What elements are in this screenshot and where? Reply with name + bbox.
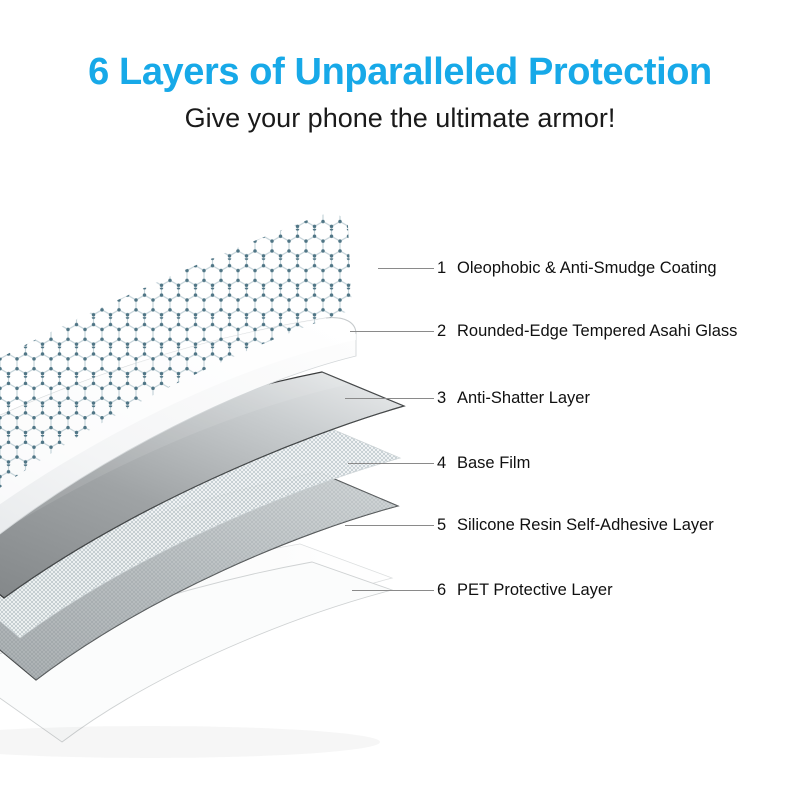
callout-label-4: Base Film [457, 454, 530, 472]
callout-row-5[interactable]: 5Silicone Resin Self-Adhesive Layer [0, 512, 800, 538]
callout-row-4[interactable]: 4Base Film [0, 450, 800, 476]
callout-text-5: 5Silicone Resin Self-Adhesive Layer [437, 512, 714, 538]
callout-number-6: 6 [437, 577, 457, 603]
callout-label-6: PET Protective Layer [457, 581, 613, 599]
callout-row-3[interactable]: 3Anti-Shatter Layer [0, 385, 800, 411]
leader-line-3 [345, 398, 434, 399]
callout-row-6[interactable]: 6PET Protective Layer [0, 577, 800, 603]
callout-row-1[interactable]: 1Oleophobic & Anti-Smudge Coating [0, 255, 800, 281]
leader-line-4 [348, 463, 434, 464]
callout-number-1: 1 [437, 255, 457, 281]
callout-label-2: Rounded-Edge Tempered Asahi Glass [457, 322, 737, 340]
callout-text-4: 4Base Film [437, 450, 530, 476]
page-subtitle: Give your phone the ultimate armor! [0, 93, 800, 134]
leader-line-1 [378, 268, 434, 269]
stack-shadow [0, 726, 380, 758]
callout-text-2: 2Rounded-Edge Tempered Asahi Glass [437, 318, 737, 344]
callout-text-3: 3Anti-Shatter Layer [437, 385, 590, 411]
header: 6 Layers of Unparalleled Protection Give… [0, 0, 800, 134]
callout-number-5: 5 [437, 512, 457, 538]
page-title: 6 Layers of Unparalleled Protection [0, 0, 800, 93]
leader-line-6 [352, 590, 434, 591]
callout-label-1: Oleophobic & Anti-Smudge Coating [457, 259, 717, 277]
callout-row-2[interactable]: 2Rounded-Edge Tempered Asahi Glass [0, 318, 800, 344]
callout-number-4: 4 [437, 450, 457, 476]
callout-label-5: Silicone Resin Self-Adhesive Layer [457, 516, 714, 534]
leader-line-5 [345, 525, 434, 526]
callout-label-3: Anti-Shatter Layer [457, 389, 590, 407]
callout-text-1: 1Oleophobic & Anti-Smudge Coating [437, 255, 717, 281]
leader-line-2 [350, 331, 434, 332]
callout-number-3: 3 [437, 385, 457, 411]
callout-number-2: 2 [437, 318, 457, 344]
callout-text-6: 6PET Protective Layer [437, 577, 613, 603]
